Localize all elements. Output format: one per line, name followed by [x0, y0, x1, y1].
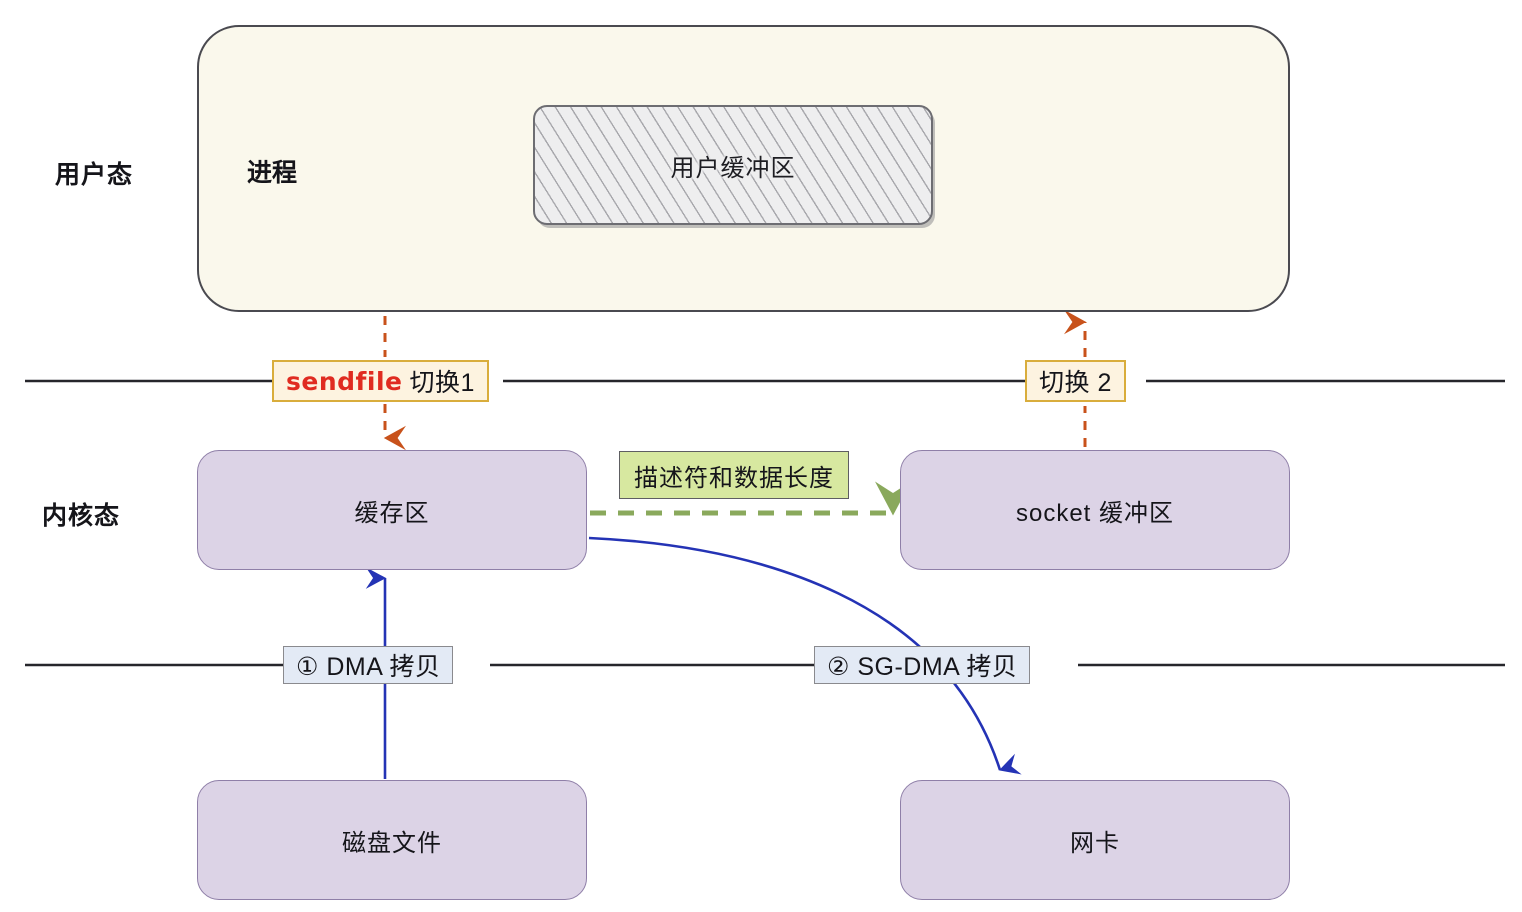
dma-copy-text: ① DMA 拷贝 — [296, 647, 440, 683]
zone-label-kernel-space: 内核态 — [42, 496, 120, 532]
network-card-box: 网卡 — [900, 780, 1290, 900]
context-switch-2-text: 切换 2 — [1039, 363, 1112, 399]
sendfile-switch-text: 切换1 — [410, 363, 475, 399]
socket-buffer-label: socket 缓冲区 — [1016, 493, 1174, 528]
descriptor-length-text: 描述符和数据长度 — [634, 458, 834, 493]
sendfile-syscall-name: sendfile — [286, 367, 403, 396]
disk-file-box: 磁盘文件 — [197, 780, 587, 900]
sg-dma-copy-label: ② SG-DMA 拷贝 — [814, 646, 1030, 684]
network-card-label: 网卡 — [1070, 823, 1120, 858]
descriptor-length-tag: 描述符和数据长度 — [619, 451, 849, 499]
disk-file-label: 磁盘文件 — [342, 823, 442, 858]
kernel-cache-box: 缓存区 — [197, 450, 587, 570]
process-label: 进程 — [247, 153, 297, 189]
dma-copy-label: ① DMA 拷贝 — [283, 646, 453, 684]
context-switch-2-label: 切换 2 — [1025, 360, 1126, 402]
zone-label-user-space: 用户态 — [55, 155, 133, 191]
kernel-cache-label: 缓存区 — [355, 493, 430, 528]
sendfile-switch-label: sendfile 切换1 — [272, 360, 489, 402]
user-buffer-box: 用户缓冲区 — [533, 105, 933, 225]
user-buffer-label: 用户缓冲区 — [671, 148, 796, 183]
sg-dma-copy-text: ② SG-DMA 拷贝 — [827, 647, 1017, 683]
diagram-canvas: 用户态 内核态 进程 用户缓冲区 缓存区 socket 缓冲区 磁盘文件 网卡 … — [0, 0, 1522, 912]
socket-buffer-box: socket 缓冲区 — [900, 450, 1290, 570]
